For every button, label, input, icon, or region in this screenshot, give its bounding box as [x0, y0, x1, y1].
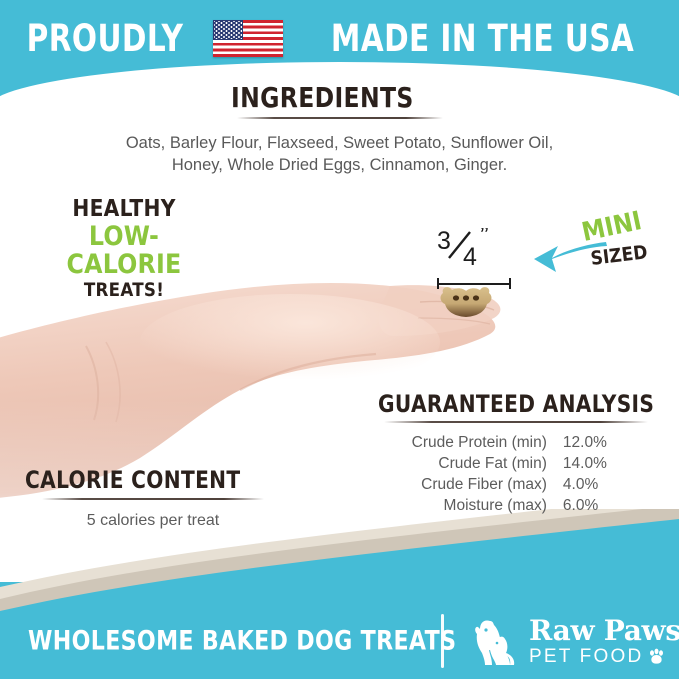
- dog-and-cat-silhouette-icon: [470, 615, 522, 667]
- ingredients-line-1: Oats, Barley Flour, Flaxseed, Sweet Pota…: [0, 133, 679, 155]
- table-row: Crude Protein (min) 12.0%: [378, 432, 654, 453]
- logo-wordmark: Raw Paws® PET FOOD: [529, 617, 679, 666]
- guaranteed-analysis-section: GUARANTEED ANALYSIS Crude Protein (min) …: [378, 392, 654, 516]
- footer-slogan: WHOLESOME BAKED DOG TREATS: [28, 626, 456, 657]
- nutrient-label: Crude Protein (min): [378, 432, 563, 453]
- ingredients-list: Oats, Barley Flour, Flaxseed, Sweet Pota…: [0, 133, 679, 177]
- nutrient-label: Crude Fat (min): [378, 453, 563, 474]
- ingredients-heading: INGREDIENTS: [231, 84, 414, 112]
- mini-sized-badge: MINI SIZED: [530, 222, 670, 284]
- header-text-left: PROUDLY: [27, 20, 184, 57]
- svg-text:3: 3: [437, 228, 450, 255]
- healthy-line-1: HEALTHY: [36, 198, 212, 222]
- measurement-bar: [437, 278, 511, 289]
- measurement-cap-left: [437, 278, 439, 289]
- sized-label: SIZED: [590, 243, 649, 269]
- nutrient-label: Crude Fiber (max): [378, 474, 563, 495]
- table-row: Crude Fat (min) 14.0%: [378, 453, 654, 474]
- guaranteed-analysis-rule: [384, 421, 648, 423]
- table-row: Crude Fiber (max) 4.0%: [378, 474, 654, 495]
- brand-logo[interactable]: Raw Paws® PET FOOD: [470, 615, 679, 667]
- calorie-content-section: CALORIE CONTENT 5 calories per treat: [22, 468, 284, 530]
- fraction-glyph: 3 4 ”: [437, 228, 507, 268]
- nutrient-value: 12.0%: [563, 432, 654, 453]
- calorie-content-rule: [42, 498, 264, 500]
- nutrient-value: 6.0%: [563, 495, 654, 516]
- guaranteed-analysis-heading: GUARANTEED ANALYSIS: [378, 392, 654, 416]
- header-banner: PROUDLY MADE IN THE USA: [0, 0, 679, 80]
- logo-brand-name: Raw Paws®: [529, 617, 679, 645]
- logo-brand-text: Raw Paws: [529, 614, 679, 647]
- ingredients-rule: [237, 117, 443, 119]
- measurement-value: 3 4 ”: [437, 228, 511, 273]
- us-flag-icon: [213, 20, 283, 57]
- header-text-right: MADE IN THE USA: [331, 20, 634, 57]
- nutrient-value: 4.0%: [563, 474, 654, 495]
- nutrient-label: Moisture (max): [378, 495, 563, 516]
- dog-bone-treat-icon: [437, 283, 495, 325]
- footer-divider: [441, 614, 444, 668]
- header-row: PROUDLY MADE IN THE USA: [0, 14, 679, 62]
- healthy-low-calorie-badge: HEALTHY LOW-CALORIE TREATS!: [24, 198, 224, 301]
- infographic-canvas: PROUDLY MADE IN THE USA: [0, 0, 679, 679]
- measurement-cap-right: [509, 278, 511, 289]
- healthy-line-3: TREATS!: [36, 281, 212, 301]
- guaranteed-analysis-table: Crude Protein (min) 12.0% Crude Fat (min…: [378, 432, 654, 516]
- svg-text:”: ”: [480, 228, 488, 250]
- table-row: Moisture (max) 6.0%: [378, 495, 654, 516]
- ingredients-section: INGREDIENTS Oats, Barley Flour, Flaxseed…: [0, 84, 679, 177]
- measurement-bar-line: [437, 283, 511, 285]
- paw-print-icon: [648, 648, 665, 665]
- logo-tagline-text: PET FOOD: [529, 647, 643, 666]
- calorie-content-heading: CALORIE CONTENT: [25, 468, 240, 492]
- logo-tagline: PET FOOD: [529, 647, 679, 666]
- footer-bar: WHOLESOME BAKED DOG TREATS Raw Paws® PET…: [0, 603, 679, 679]
- flag-stars: [214, 21, 242, 39]
- healthy-line-2: LOW-CALORIE: [36, 223, 212, 279]
- size-measurement: 3 4 ”: [437, 228, 511, 289]
- nutrient-value: 14.0%: [563, 453, 654, 474]
- calorie-content-value: 5 calories per treat: [22, 512, 284, 530]
- svg-text:4: 4: [463, 243, 477, 268]
- ingredients-line-2: Honey, Whole Dried Eggs, Cinnamon, Ginge…: [0, 155, 679, 177]
